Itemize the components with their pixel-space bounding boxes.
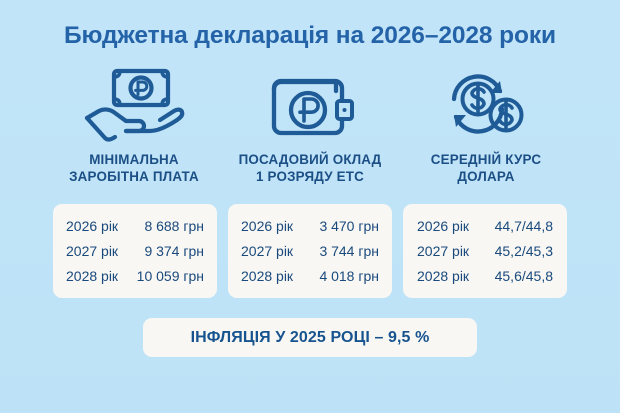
row-year: 2026 рік bbox=[241, 218, 303, 234]
row-value: 45,6/45,8 bbox=[479, 268, 553, 284]
column-heading: МІНІМАЛЬНА ЗАРОБІТНА ПЛАТА bbox=[69, 152, 199, 185]
wallet-with-coin-icon bbox=[258, 62, 362, 146]
table-row: 2026 рік 8 688 грн bbox=[53, 213, 217, 238]
column-heading: СЕРЕДНІЙ КУРС ДОЛАРА bbox=[431, 152, 541, 185]
infographic-root: Бюджетна декларація на 2026–2028 роки bbox=[0, 0, 620, 413]
row-year: 2028 рік bbox=[417, 268, 479, 284]
row-value: 3 470 грн bbox=[303, 218, 379, 234]
row-year: 2027 рік bbox=[417, 243, 479, 259]
table-row: 2028 рік 10 059 грн bbox=[53, 263, 217, 288]
row-year: 2028 рік bbox=[241, 268, 303, 284]
row-year: 2026 рік bbox=[417, 218, 479, 234]
row-value: 10 059 грн bbox=[128, 268, 204, 284]
column-group: МІНІМАЛЬНА ЗАРОБІТНА ПЛАТА ПОСАДОВИЙ ОКЛ… bbox=[46, 62, 574, 185]
data-card-salary-grade-one: 2026 рік 3 470 грн 2027 рік 3 744 грн 20… bbox=[228, 204, 392, 298]
currency-exchange-icon bbox=[434, 62, 538, 146]
table-row: 2028 рік 4 018 грн bbox=[228, 263, 392, 288]
hand-holding-banknote-icon bbox=[82, 62, 186, 146]
data-card-group: 2026 рік 8 688 грн 2027 рік 9 374 грн 20… bbox=[53, 204, 567, 298]
table-row: 2027 рік 9 374 грн bbox=[53, 238, 217, 263]
row-value: 4 018 грн bbox=[303, 268, 379, 284]
column-dollar-rate: СЕРЕДНІЙ КУРС ДОЛАРА bbox=[398, 62, 574, 185]
table-row: 2027 рік 45,2/45,3 bbox=[403, 238, 567, 263]
row-year: 2026 рік bbox=[66, 218, 128, 234]
row-value: 45,2/45,3 bbox=[479, 243, 553, 259]
table-row: 2028 рік 45,6/45,8 bbox=[403, 263, 567, 288]
row-value: 44,7/44,8 bbox=[479, 218, 553, 234]
row-year: 2027 рік bbox=[66, 243, 128, 259]
row-year: 2028 рік bbox=[66, 268, 128, 284]
data-card-minimum-wage: 2026 рік 8 688 грн 2027 рік 9 374 грн 20… bbox=[53, 204, 217, 298]
column-salary-grade-one: ПОСАДОВИЙ ОКЛАД 1 РОЗРЯДУ ЕТС bbox=[222, 62, 398, 185]
table-row: 2027 рік 3 744 грн bbox=[228, 238, 392, 263]
table-row: 2026 рік 44,7/44,8 bbox=[403, 213, 567, 238]
column-heading: ПОСАДОВИЙ ОКЛАД 1 РОЗРЯДУ ЕТС bbox=[239, 152, 382, 185]
row-year: 2027 рік bbox=[241, 243, 303, 259]
row-value: 3 744 грн bbox=[303, 243, 379, 259]
page-title: Бюджетна декларація на 2026–2028 роки bbox=[0, 22, 620, 50]
inflation-banner-text: ІНФЛЯЦІЯ У 2025 РОЦІ – 9,5 % bbox=[191, 329, 430, 347]
row-value: 8 688 грн bbox=[128, 218, 204, 234]
table-row: 2026 рік 3 470 грн bbox=[228, 213, 392, 238]
data-card-dollar-rate: 2026 рік 44,7/44,8 2027 рік 45,2/45,3 20… bbox=[403, 204, 567, 298]
column-minimum-wage: МІНІМАЛЬНА ЗАРОБІТНА ПЛАТА bbox=[46, 62, 222, 185]
row-value: 9 374 грн bbox=[128, 243, 204, 259]
inflation-banner: ІНФЛЯЦІЯ У 2025 РОЦІ – 9,5 % bbox=[143, 318, 477, 357]
